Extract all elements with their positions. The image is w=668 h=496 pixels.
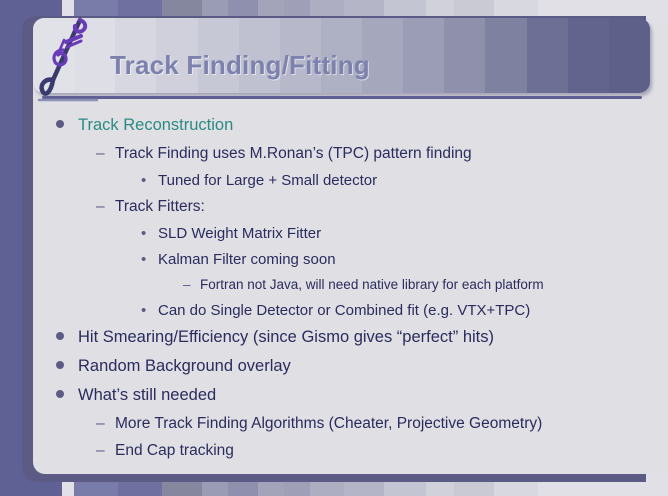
bullet-marker-icon: –	[183, 277, 200, 292]
bullet-marker-icon: –	[96, 145, 115, 163]
bullet-text: Can do Single Detector or Combined fit (…	[158, 302, 530, 319]
bullet-text: Tuned for Large + Small detector	[158, 172, 377, 189]
bullet-marker-icon: •	[141, 302, 158, 319]
bullet-item-level-1: What’s still needed	[33, 386, 668, 415]
bullet-marker-icon: –	[96, 442, 115, 460]
bullet-dot-icon	[56, 385, 78, 402]
bullet-item-level-1: Hit Smearing/Efficiency (since Gismo giv…	[33, 328, 668, 357]
bullet-marker-icon: –	[96, 415, 115, 433]
bullet-item-level-1: Track Reconstruction	[33, 116, 668, 145]
bullet-text: More Track Finding Algorithms (Cheater, …	[115, 415, 542, 433]
bullet-item-level-1: Random Background overlay	[33, 357, 668, 386]
bullet-item-level-2: –Track Fitters:	[33, 198, 668, 225]
title-bar-stripe	[527, 18, 569, 93]
bullet-text: Track Fitters:	[115, 198, 205, 216]
bullet-dot-shape	[56, 390, 64, 398]
music-note-track-icon	[33, 14, 103, 106]
bullet-dot-shape	[56, 332, 64, 340]
bullet-item-level-2: –Track Finding uses M.Ronan’s (TPC) patt…	[33, 145, 668, 172]
bullet-text: End Cap tracking	[115, 442, 234, 460]
bullet-dot-shape	[56, 120, 64, 128]
bullet-marker-icon: –	[96, 198, 115, 216]
bullet-text: Fortran not Java, will need native libra…	[200, 277, 544, 292]
bullet-text: Random Background overlay	[78, 357, 291, 376]
bullet-dot-icon	[56, 327, 78, 344]
title-bar-stripe	[568, 18, 610, 93]
bullet-dot-shape	[56, 361, 64, 369]
slide-bullet-list: Track Reconstruction–Track Finding uses …	[33, 116, 668, 469]
slide-title: Track Finding/Fitting	[110, 50, 370, 81]
bullet-marker-icon: •	[141, 225, 158, 242]
bullet-text: Hit Smearing/Efficiency (since Gismo giv…	[78, 328, 494, 347]
bullet-dot-icon	[56, 356, 78, 373]
title-bar-stripe	[485, 18, 527, 93]
bullet-marker-icon: •	[141, 251, 158, 268]
bullet-dot-icon	[56, 115, 78, 132]
bullet-item-level-2: –More Track Finding Algorithms (Cheater,…	[33, 415, 668, 442]
bullet-item-level-3: •Can do Single Detector or Combined fit …	[33, 302, 668, 328]
bullet-item-level-4: –Fortran not Java, will need native libr…	[33, 277, 668, 302]
bullet-item-level-3: •Kalman Filter coming soon	[33, 251, 668, 277]
bullet-text: Kalman Filter coming soon	[158, 251, 336, 268]
bullet-text: SLD Weight Matrix Fitter	[158, 225, 321, 242]
title-bar-stripe	[403, 18, 445, 93]
bullet-marker-icon: •	[141, 172, 158, 189]
title-bar-stripe	[609, 18, 650, 93]
bullet-text: What’s still needed	[78, 386, 216, 405]
title-bar-stripe	[444, 18, 486, 93]
title-underline	[42, 96, 642, 99]
bullet-item-level-3: •SLD Weight Matrix Fitter	[33, 225, 668, 251]
bullet-text: Track Reconstruction	[78, 116, 233, 135]
presentation-slide: Track Finding/Fitting Track Reconstructi…	[0, 0, 668, 496]
bullet-item-level-3: •Tuned for Large + Small detector	[33, 172, 668, 198]
bullet-item-level-2: –End Cap tracking	[33, 442, 668, 469]
bullet-text: Track Finding uses M.Ronan’s (TPC) patte…	[115, 145, 472, 163]
